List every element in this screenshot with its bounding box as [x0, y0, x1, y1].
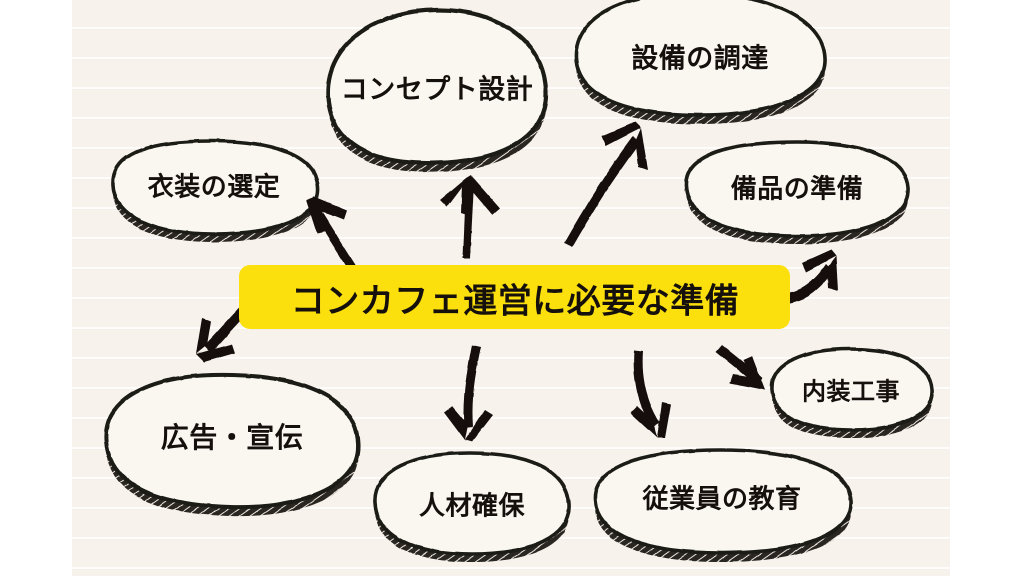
- arrow-to-interior-construction: [716, 345, 765, 390]
- node-body-employee-training: [595, 450, 851, 553]
- arrow-to-supplies-preparation: [787, 250, 838, 303]
- node-body-concept-design: [328, 10, 546, 163]
- node-body-interior-construction: [772, 349, 932, 430]
- node-body-costume-selection: [113, 141, 318, 234]
- arrow-to-employee-training: [630, 350, 671, 438]
- node-concept-design[interactable]: [328, 10, 546, 172]
- arrow-to-concept-design: [440, 175, 500, 258]
- node-employee-training[interactable]: [595, 450, 851, 562]
- node-interior-construction[interactable]: [772, 349, 932, 438]
- node-body-supplies-preparation: [686, 142, 908, 236]
- node-staff-recruitment[interactable]: [375, 453, 569, 562]
- arrow-to-equipment-procurement: [564, 122, 648, 247]
- node-costume-selection[interactable]: [113, 141, 318, 242]
- diagram-canvas: コンカフェ運営に必要な準備 コンセプト設計 設備の調達 衣装の選定 備品の準備 …: [0, 0, 1024, 576]
- center-node-highlight[interactable]: [239, 265, 790, 329]
- node-advertising-promotion[interactable]: [106, 375, 358, 516]
- node-supplies-preparation[interactable]: [686, 142, 908, 244]
- node-body-equipment-procurement: [576, 0, 825, 115]
- node-body-advertising-promotion: [106, 375, 358, 507]
- node-equipment-procurement[interactable]: [576, 0, 825, 124]
- node-body-staff-recruitment: [375, 453, 569, 554]
- arrow-to-staff-recruitment: [444, 345, 493, 442]
